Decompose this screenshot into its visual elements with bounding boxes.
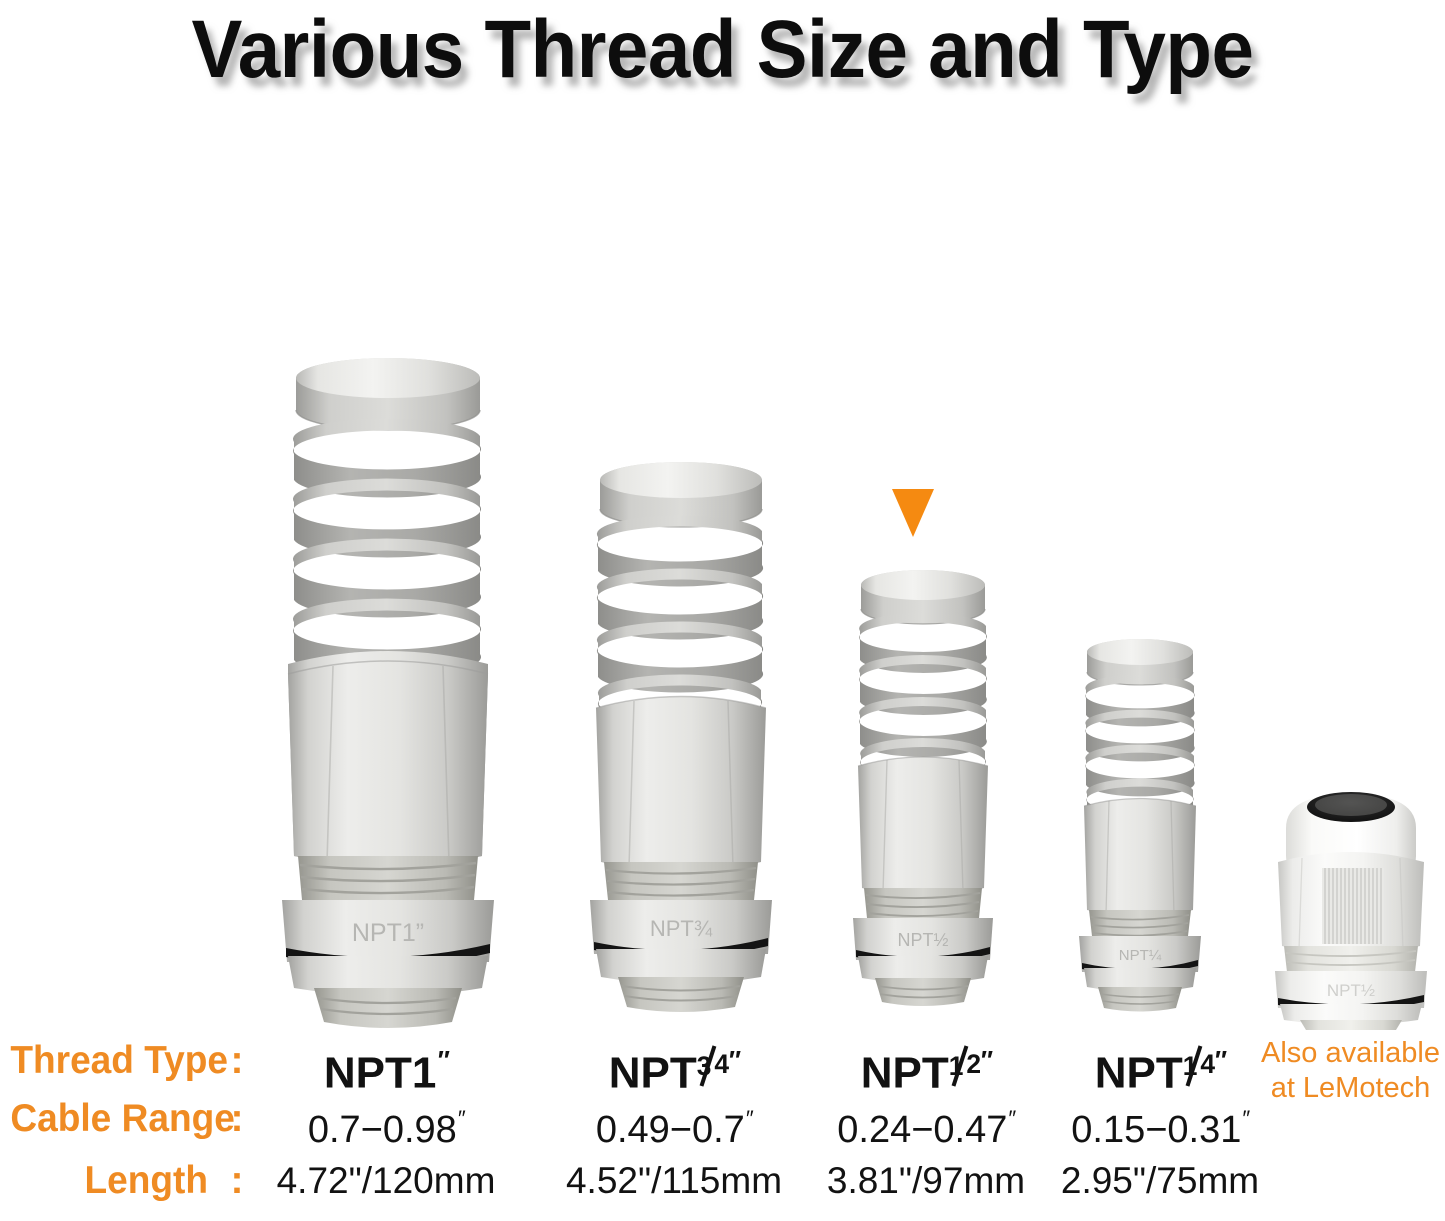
thread-prefix: NPT [324,1048,412,1097]
row-colon-thread-type: : [226,1036,248,1086]
bottom-thread-stem [288,956,488,1028]
cell-thread-type-3: NPT14″ [1042,1036,1278,1098]
spec-row-thread-type: Thread Type : NPT1″ NPT34″ NPT12″ NPT14″ [0,1036,1445,1092]
hex-nut-body [1278,852,1424,955]
fraction-1-2: 12 [949,1043,980,1087]
cable-range-value: 0.24−0.47 [837,1109,1007,1151]
row-label-thread-type: Thread Type [10,1036,208,1086]
cable-range-value: 0.7−0.98 [308,1109,457,1151]
cell-cable-range-3: 0.15−0.31″ [1042,1094,1278,1155]
inch-mark: ″ [728,1047,740,1075]
row-colon-length: : [226,1156,248,1206]
cell-length-1: 4.52"/115mm [556,1156,792,1206]
fraction-denominator: 4 [714,1039,729,1089]
cell-thread-type-2: NPT12″ [808,1036,1044,1098]
cable-range-value: 0.15−0.31 [1071,1109,1241,1151]
thread-whole: 1 [412,1048,436,1097]
cell-thread-type-1: NPT34″ [556,1036,792,1098]
thread-size-emboss: NPT½ [1327,981,1375,1000]
fraction-3-4: 34 [697,1043,728,1087]
availability-note: Also available at LeMotech [1256,1036,1445,1106]
hex-nut-body [1084,799,1196,917]
thread-prefix: NPT [861,1048,949,1097]
inch-mark: ″ [745,1106,752,1131]
row-label-length: Length [10,1156,208,1206]
inch-mark: ″ [1241,1106,1248,1131]
bottom-thread-stem [596,949,766,1012]
cable-gland-standard-white: NPT½ [1262,782,1440,1030]
cable-gland-npt12: NPT½ [838,560,1008,1030]
triangle-down-icon [890,487,936,539]
cable-range-value: 0.49−0.7 [596,1109,745,1151]
cell-length-0: 4.72"/120mm [268,1156,504,1206]
bottom-thread-stem [858,956,988,1006]
thread-size-emboss: NPT¾ [650,916,713,941]
inch-mark: ″ [1214,1047,1226,1075]
inch-mark: ″ [1007,1106,1014,1131]
thread-size-emboss: NPT¼ [1119,947,1162,964]
product-image-stage: NPT1” [0,0,1445,1030]
hex-nut-body [858,757,988,896]
spec-table: Thread Type : NPT1″ NPT34″ NPT12″ NPT14″… [0,1028,1445,1221]
product-infographic: Various Thread Size and Type [0,0,1445,1221]
bottom-thread-stem [1084,968,1196,1012]
availability-note-line2: at LeMotech [1256,1071,1445,1106]
inch-mark: ″ [980,1047,992,1075]
cable-gland-npt1: NPT1” [258,344,518,1030]
cell-length-2: 3.81"/97mm [808,1156,1044,1206]
cable-gland-npt14: NPT¼ [1065,630,1215,1030]
cell-thread-type-0: NPT1″ [268,1036,504,1098]
bottom-thread-stem [1280,1004,1422,1030]
spec-row-length: Length : 4.72"/120mm 4.52"/115mm 3.81"/9… [0,1156,1445,1212]
cell-cable-range-0: 0.7−0.98″ [268,1094,504,1155]
thread-prefix: NPT [609,1048,697,1097]
spec-row-cable-range: Cable Range : 0.7−0.98″ 0.49−0.7″ 0.24−0… [0,1094,1445,1150]
threaded-section [1089,910,1191,936]
cell-cable-range-1: 0.49−0.7″ [556,1094,792,1155]
hex-nut-body [288,651,488,867]
cell-length-3: 2.95"/75mm [1042,1156,1278,1206]
availability-note-line1: Also available [1256,1036,1445,1071]
hex-nut-body [596,697,766,872]
cable-gland-npt34: NPT¾ [570,450,792,1030]
threaded-section [864,888,982,918]
cell-cable-range-2: 0.24−0.47″ [808,1094,1044,1155]
inch-mark: ″ [436,1047,448,1075]
row-label-cable-range: Cable Range [10,1094,208,1144]
thread-size-emboss: NPT½ [897,930,948,950]
grip-rib-lines [1325,868,1381,944]
row-colon-cable-range: : [226,1094,248,1144]
fraction-1-4: 14 [1183,1043,1214,1087]
thread-size-emboss: NPT1” [352,919,424,947]
fraction-denominator: 4 [1200,1039,1215,1089]
threaded-section [604,862,758,900]
inch-mark: ″ [457,1106,464,1131]
threaded-section [298,856,478,900]
threaded-section [1284,946,1418,972]
fraction-denominator: 2 [966,1039,981,1089]
thread-prefix: NPT [1095,1048,1183,1097]
